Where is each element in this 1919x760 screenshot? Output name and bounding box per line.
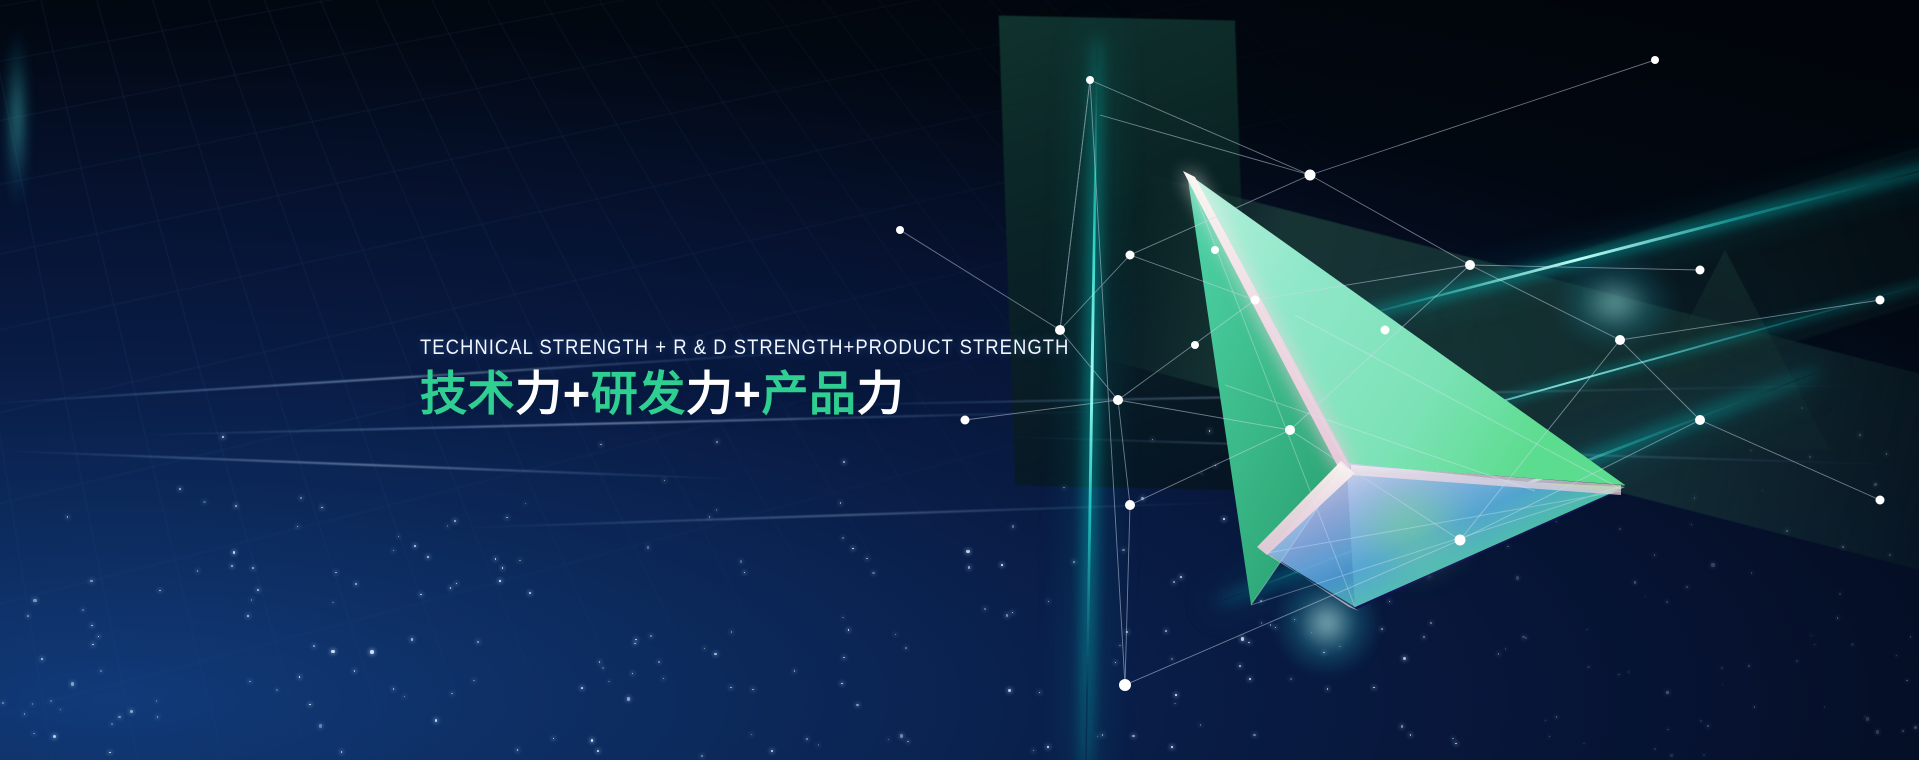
light-streak-glow: [0, 0, 34, 240]
dark-plane-diagonal-2: [1408, 99, 1919, 447]
terrain-ridge-line: [440, 500, 1260, 529]
headline-segment: 力: [857, 367, 905, 420]
light-streak-diagonal-2: [1250, 267, 1919, 472]
headline-segment: 产品: [761, 367, 856, 420]
terrain-ridge-line: [980, 435, 1919, 467]
lens-flare-bottom: [1252, 548, 1402, 698]
headline-segment: +: [733, 367, 761, 420]
light-streak-diagonal-1: [1300, 150, 1919, 333]
headline-segment: +: [563, 367, 591, 420]
hero-headline: 技术力+研发力+产品力: [420, 367, 1158, 421]
hero-banner: TECHNICAL STRENGTH + R & D STRENGTH+PROD…: [0, 0, 1919, 760]
headline-segment: 力: [686, 367, 734, 420]
lens-flare-right: [1530, 238, 1700, 368]
terrain-ridge-line: [0, 449, 760, 481]
hero-eyebrow-text: TECHNICAL STRENGTH + R & D STRENGTH+PROD…: [420, 336, 1069, 360]
headline-segment: 力: [515, 367, 563, 420]
headline-segment: 技术: [420, 367, 515, 420]
dark-plane-notch: [1620, 250, 1830, 450]
light-streak-diagonal-3: [1219, 371, 1818, 603]
dark-plane-diagonal: [1096, 173, 1919, 622]
headline-segment: 研发: [591, 367, 686, 420]
hero-copy-block: TECHNICAL STRENGTH + R & D STRENGTH+PROD…: [420, 336, 1158, 421]
